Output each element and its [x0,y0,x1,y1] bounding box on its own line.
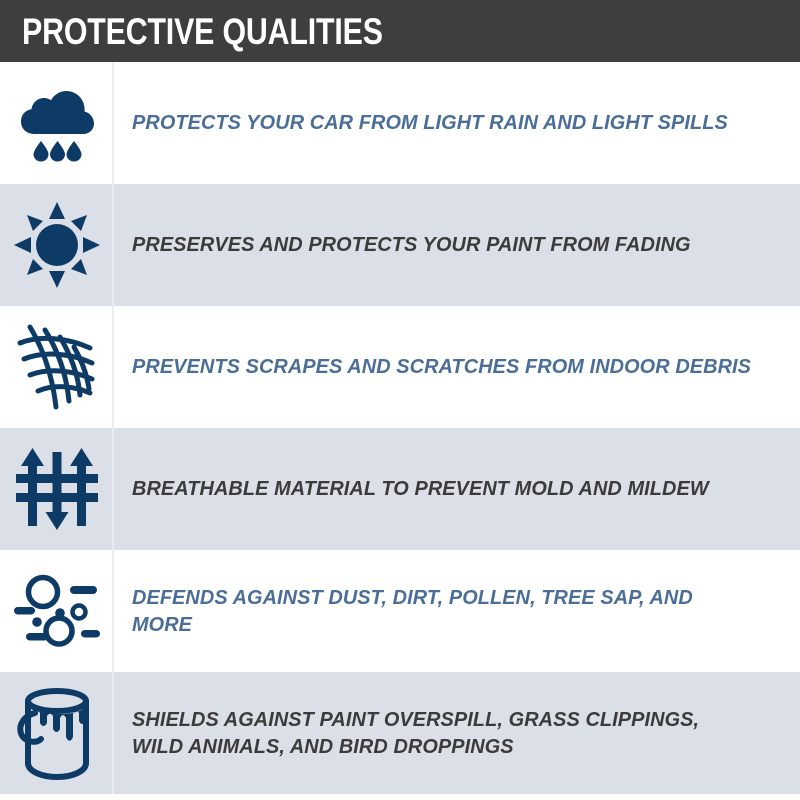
page-title: PROTECTIVE QUALITIES [22,13,383,50]
list-item: PROTECTS YOUR CAR FROM LIGHT RAIN AND LI… [0,62,800,184]
protective-qualities-infographic: PROTECTIVE QUALITIES [0,0,800,800]
list-item-label: PRESERVES AND PROTECTS YOUR PAINT FROM F… [132,231,691,258]
list-item: BREATHABLE MATERIAL TO PREVENT MOLD AND … [0,428,800,550]
icon-cell [0,184,114,306]
list-item: PRESERVES AND PROTECTS YOUR PAINT FROM F… [0,184,800,306]
dust-particles-icon [12,569,102,653]
column-divider [112,672,114,794]
list-item: DEFENDS AGAINST DUST, DIRT, POLLEN, TREE… [0,550,800,672]
list-item-label: PREVENTS SCRAPES AND SCRATCHES FROM INDO… [132,353,751,380]
column-divider [112,62,114,184]
text-cell: PREVENTS SCRAPES AND SCRATCHES FROM INDO… [114,306,800,428]
paint-can-icon [15,685,99,781]
text-cell: BREATHABLE MATERIAL TO PREVENT MOLD AND … [114,428,800,550]
icon-cell [0,62,114,184]
list-item: PREVENTS SCRAPES AND SCRATCHES FROM INDO… [0,306,800,428]
header-bar: PROTECTIVE QUALITIES [0,0,800,62]
icon-cell [0,672,114,794]
icon-cell [0,428,114,550]
breathable-airflow-icon [14,446,100,532]
feature-list: PROTECTS YOUR CAR FROM LIGHT RAIN AND LI… [0,62,800,794]
icon-cell [0,550,114,672]
column-divider [112,306,114,428]
column-divider [112,428,114,550]
column-divider [112,184,114,306]
icon-cell [0,306,114,428]
text-cell: PROTECTS YOUR CAR FROM LIGHT RAIN AND LI… [114,62,800,184]
text-cell: PRESERVES AND PROTECTS YOUR PAINT FROM F… [114,184,800,306]
rain-cloud-icon [15,81,99,165]
list-item-label: BREATHABLE MATERIAL TO PREVENT MOLD AND … [132,475,709,502]
text-cell: DEFENDS AGAINST DUST, DIRT, POLLEN, TREE… [114,550,800,672]
column-divider [112,550,114,672]
scratch-mesh-icon [12,321,102,413]
list-item-label: DEFENDS AGAINST DUST, DIRT, POLLEN, TREE… [132,584,755,639]
text-cell: SHIELDS AGAINST PAINT OVERSPILL, GRASS C… [114,672,800,794]
list-item: SHIELDS AGAINST PAINT OVERSPILL, GRASS C… [0,672,800,794]
list-item-label: PROTECTS YOUR CAR FROM LIGHT RAIN AND LI… [132,109,728,136]
list-item-label: SHIELDS AGAINST PAINT OVERSPILL, GRASS C… [132,706,755,761]
sun-icon [14,202,100,288]
bottom-strip [0,794,800,800]
